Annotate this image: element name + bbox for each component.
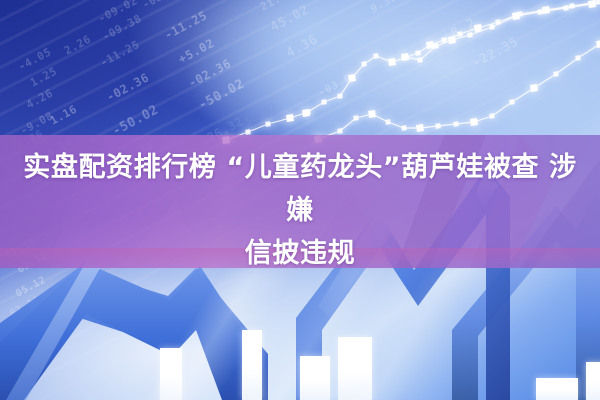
page-title: 实盘配资排行榜 “儿童药龙头”葫芦娃被查 涉嫌 信披违规 bbox=[0, 146, 600, 275]
headline-line-1: 实盘配资排行榜 “儿童药龙头”葫芦娃被查 涉嫌 bbox=[14, 146, 586, 232]
headline-line-2: 信披违规 bbox=[14, 232, 586, 275]
cover-image-canvas: 21.1545.024.36-02.35-09.02-11.25-09.38+5… bbox=[0, 0, 600, 400]
